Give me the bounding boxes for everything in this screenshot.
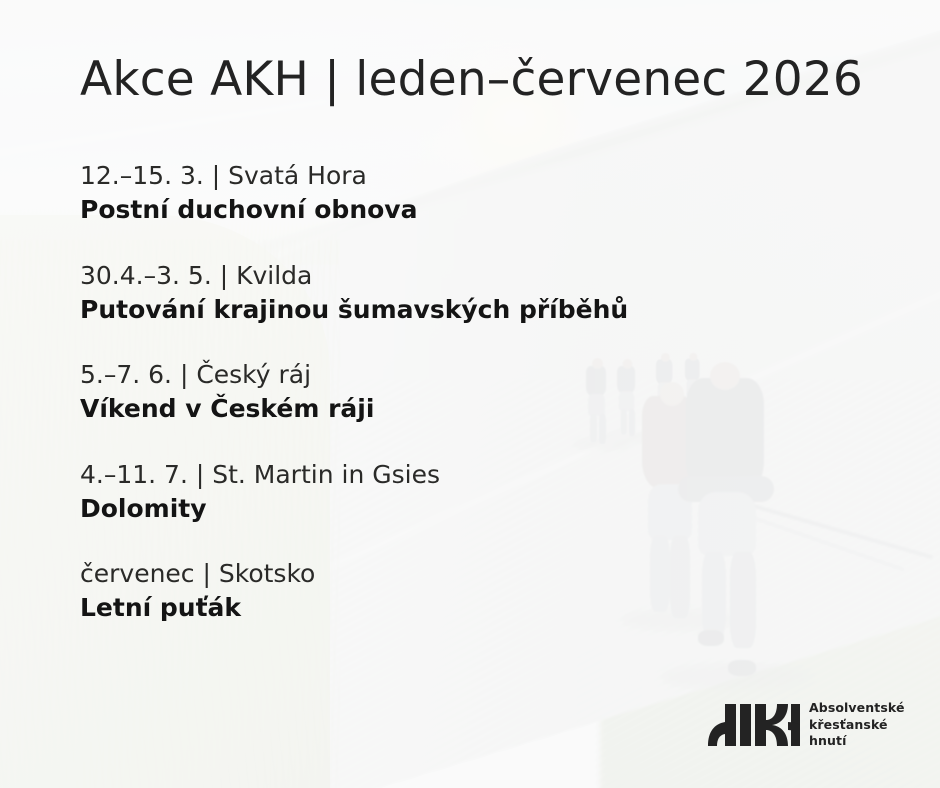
- event-meta: 30.4.–3. 5. | Kvilda: [80, 260, 860, 292]
- event-name: Postní duchovní obnova: [80, 194, 860, 227]
- logo-line-1: Absolventské: [809, 700, 905, 717]
- event-name: Víkend v Českém ráji: [80, 393, 860, 426]
- list-item: 30.4.–3. 5. | Kvilda Putování krajinou š…: [80, 260, 860, 327]
- page-title: Akce AKH | leden–červenec 2026: [80, 52, 863, 107]
- event-meta: 12.–15. 3. | Svatá Hora: [80, 160, 860, 192]
- list-item: 12.–15. 3. | Svatá Hora Postní duchovní …: [80, 160, 860, 227]
- poster-content: Akce AKH | leden–červenec 2026 12.–15. 3…: [0, 0, 940, 788]
- list-item: červenec | Skotsko Letní puťák: [80, 558, 860, 625]
- list-item: 5.–7. 6. | Český ráj Víkend v Českém ráj…: [80, 359, 860, 426]
- poster-canvas: Akce AKH | leden–červenec 2026 12.–15. 3…: [0, 0, 940, 788]
- event-name: Dolomity: [80, 493, 860, 526]
- event-list: 12.–15. 3. | Svatá Hora Postní duchovní …: [80, 160, 860, 625]
- akh-monogram-icon: [706, 702, 800, 748]
- logo-wordmark: Absolventské křesťanské hnutí: [809, 700, 905, 750]
- event-meta: 4.–11. 7. | St. Martin in Gsies: [80, 459, 860, 491]
- logo-line-3: hnutí: [809, 733, 905, 750]
- event-name: Letní puťák: [80, 592, 860, 625]
- list-item: 4.–11. 7. | St. Martin in Gsies Dolomity: [80, 459, 860, 526]
- logo-line-2: křesťanské: [809, 717, 905, 734]
- event-meta: červenec | Skotsko: [80, 558, 860, 590]
- event-meta: 5.–7. 6. | Český ráj: [80, 359, 860, 391]
- event-name: Putování krajinou šumavských příběhů: [80, 294, 860, 327]
- akh-logo: Absolventské křesťanské hnutí: [706, 700, 905, 750]
